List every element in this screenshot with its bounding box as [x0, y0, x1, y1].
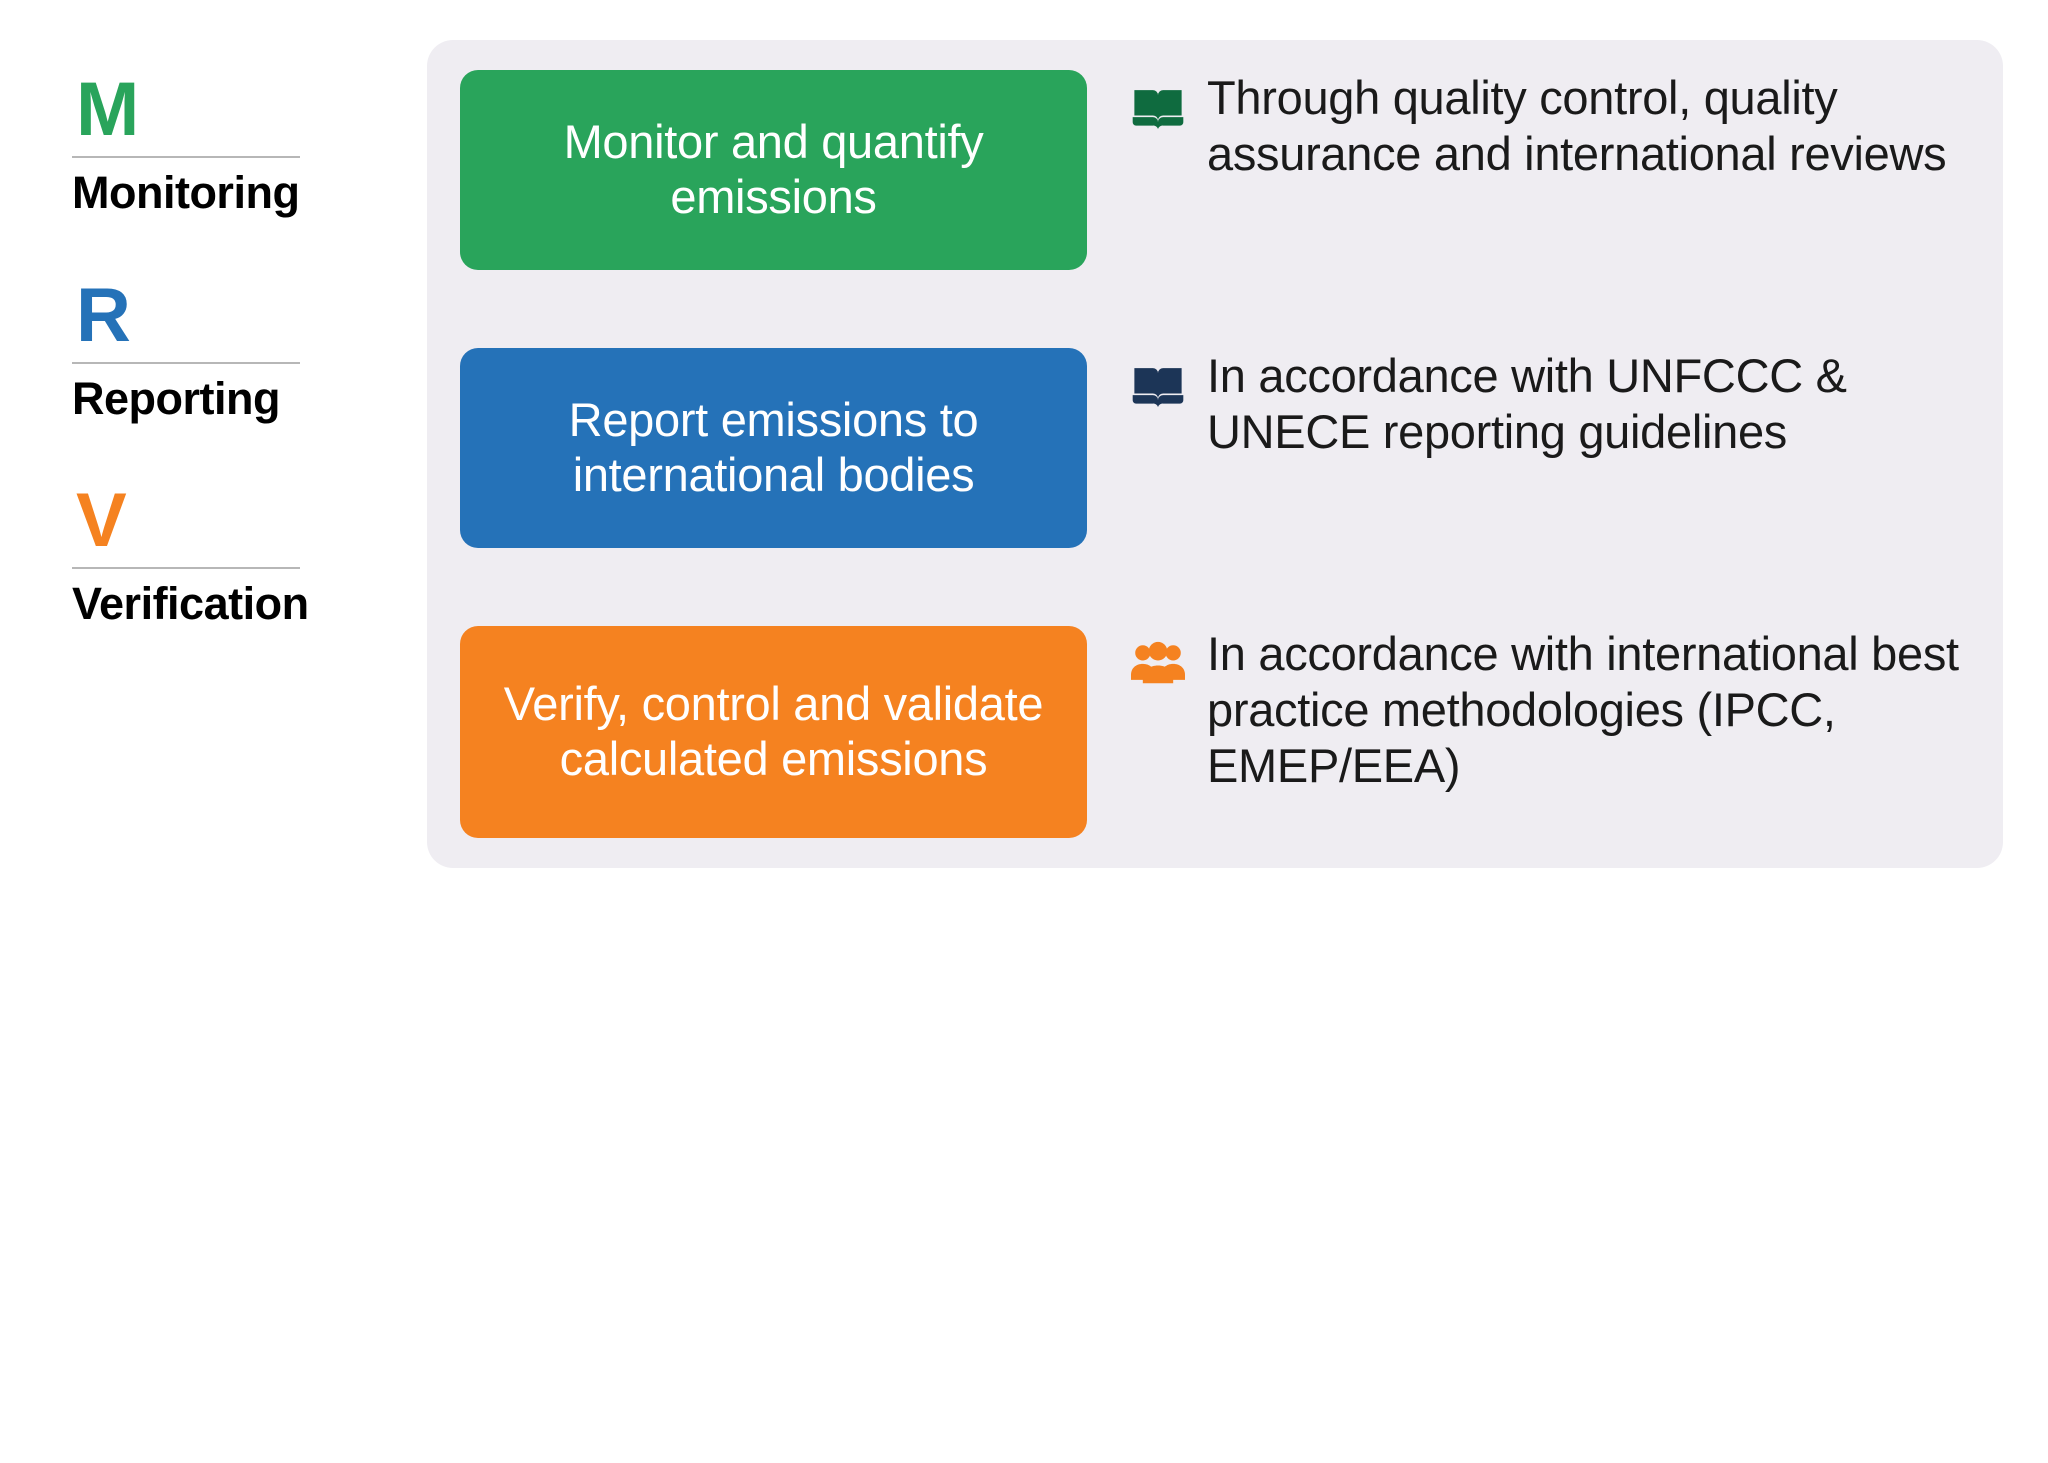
sidebar-item-reporting: R Reporting — [72, 280, 372, 424]
detail-monitoring: Through quality control, quality assuran… — [1131, 70, 1970, 182]
open-book-icon — [1131, 80, 1185, 134]
legend-label-verification: Verification — [72, 579, 372, 629]
open-book-icon — [1131, 358, 1185, 412]
legend-divider-monitoring — [72, 156, 300, 158]
legend-letter-m: M — [72, 74, 372, 152]
mrv-panel: Monitor and quantify emissions Through q… — [427, 40, 2003, 868]
users-group-icon — [1131, 636, 1185, 690]
mrv-legend-sidebar: M Monitoring R Reporting V Verification — [72, 74, 372, 629]
legend-label-monitoring: Monitoring — [72, 168, 372, 218]
detail-text-monitoring: Through quality control, quality assuran… — [1207, 70, 1967, 182]
action-card-report: Report emissions to international bodies — [460, 348, 1087, 548]
legend-divider-reporting — [72, 362, 300, 364]
detail-text-reporting: In accordance with UNFCCC & UNECE report… — [1207, 348, 1967, 460]
sidebar-item-monitoring: M Monitoring — [72, 74, 372, 218]
legend-label-reporting: Reporting — [72, 374, 372, 424]
sidebar-item-verification: V Verification — [72, 485, 372, 629]
mrv-row-monitoring: Monitor and quantify emissions Through q… — [460, 70, 1970, 270]
action-card-monitor: Monitor and quantify emissions — [460, 70, 1087, 270]
legend-letter-v: V — [72, 485, 372, 563]
detail-text-verification: In accordance with international best pr… — [1207, 626, 1970, 794]
detail-reporting: In accordance with UNFCCC & UNECE report… — [1131, 348, 1970, 460]
action-card-verify: Verify, control and validate calculated … — [460, 626, 1087, 838]
mrv-diagram: M Monitoring R Reporting V Verification … — [0, 0, 2048, 1463]
mrv-row-reporting: Report emissions to international bodies… — [460, 348, 1970, 548]
detail-verification: In accordance with international best pr… — [1131, 626, 1970, 794]
legend-divider-verification — [72, 567, 300, 569]
legend-letter-r: R — [72, 280, 372, 358]
mrv-row-verification: Verify, control and validate calculated … — [460, 626, 1970, 838]
